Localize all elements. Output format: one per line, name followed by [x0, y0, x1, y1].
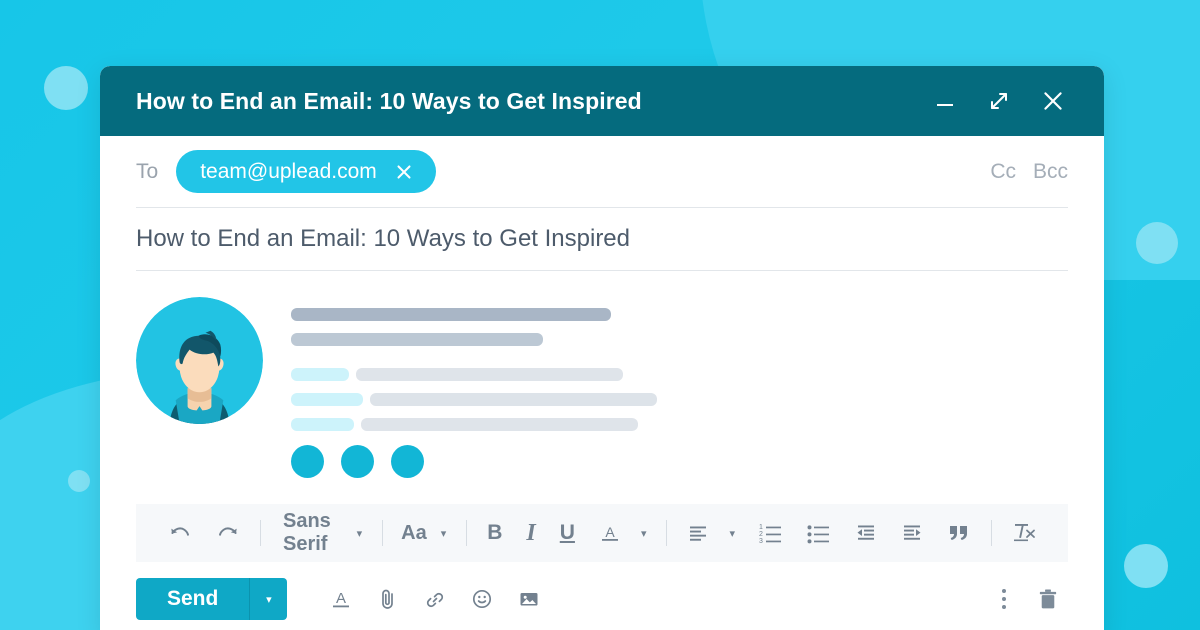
- background-circle-1: [44, 66, 88, 110]
- send-options-button[interactable]: ▾: [249, 578, 287, 620]
- undo-button[interactable]: [156, 513, 204, 553]
- placeholder-line-5: [291, 418, 1068, 431]
- cc-button[interactable]: Cc: [990, 160, 1016, 184]
- bcc-button[interactable]: Bcc: [1033, 160, 1068, 184]
- background-circle-4: [1124, 544, 1168, 588]
- insert-emoji-button[interactable]: [462, 579, 502, 619]
- recipient-chip[interactable]: team@uplead.com: [176, 150, 436, 193]
- insert-link-icon: [423, 587, 447, 611]
- placeholder-bar: [370, 393, 657, 406]
- compose-action-icons: A: [321, 579, 549, 619]
- expand-icon: [987, 89, 1011, 113]
- numbered-list-icon: 1 2 3: [758, 520, 784, 546]
- bold-button[interactable]: B: [475, 521, 514, 545]
- kebab-dot: [1002, 605, 1006, 609]
- placeholder-bar: [361, 418, 638, 431]
- font-size-caret-icon[interactable]: ▾: [433, 527, 459, 540]
- placeholder-prefix: [291, 368, 349, 381]
- body-dot-3[interactable]: [391, 445, 424, 478]
- toolbar-divider: [991, 520, 992, 546]
- subject-input[interactable]: How to End an Email: 10 Ways to Get Insp…: [136, 225, 630, 253]
- remove-formatting-icon: [1011, 520, 1037, 546]
- svg-text:3: 3: [759, 538, 763, 545]
- kebab-dot: [1002, 597, 1006, 601]
- remove-formatting-button[interactable]: [1000, 513, 1048, 553]
- subject-row[interactable]: How to End an Email: 10 Ways to Get Insp…: [136, 208, 1068, 271]
- text-color-caret-icon[interactable]: ▾: [633, 527, 659, 540]
- recipients-row[interactable]: To team@uplead.com Cc Bcc: [136, 136, 1068, 208]
- undo-icon: [167, 520, 193, 546]
- placeholder-line-3: [291, 368, 1068, 381]
- recipient-email: team@uplead.com: [200, 160, 377, 184]
- message-body[interactable]: [100, 271, 1104, 504]
- bulleted-list-icon: [806, 520, 832, 546]
- formatting-options-icon: A: [329, 587, 353, 611]
- formatting-toolbar: Sans Serif ▾ Aa ▾ B I U A ▾ ▾: [136, 504, 1068, 562]
- expand-button[interactable]: [982, 84, 1016, 118]
- toolbar-divider: [666, 520, 667, 546]
- remove-recipient-button[interactable]: [393, 161, 415, 183]
- font-family-caret-icon[interactable]: ▾: [349, 527, 375, 540]
- numbered-list-button[interactable]: 1 2 3: [747, 513, 795, 553]
- minimize-icon: [933, 89, 957, 113]
- underline-button[interactable]: U: [548, 521, 587, 545]
- discard-draft-button[interactable]: [1028, 579, 1068, 619]
- align-caret-icon[interactable]: ▾: [721, 527, 747, 540]
- background-circle-2: [1136, 222, 1178, 264]
- action-bar-right: [992, 579, 1068, 619]
- insert-image-icon: [517, 587, 541, 611]
- window-controls: [928, 84, 1070, 118]
- send-button[interactable]: Send: [136, 578, 249, 620]
- svg-text:A: A: [336, 590, 346, 607]
- svg-text:1: 1: [759, 524, 763, 531]
- compose-title: How to End an Email: 10 Ways to Get Insp…: [136, 88, 642, 115]
- body-dots: [291, 445, 1068, 478]
- font-size-select[interactable]: Aa: [391, 522, 433, 545]
- decrease-indent-icon: [854, 521, 878, 545]
- svg-text:A: A: [605, 524, 615, 540]
- italic-button[interactable]: I: [514, 520, 547, 547]
- toolbar-divider: [466, 520, 467, 546]
- more-options-button[interactable]: [992, 583, 1016, 615]
- insert-emoji-icon: [470, 587, 494, 611]
- toolbar-divider: [382, 520, 383, 546]
- toolbar-divider: [260, 520, 261, 546]
- cc-bcc-group: Cc Bcc: [990, 160, 1068, 184]
- align-button[interactable]: [675, 513, 721, 553]
- body-dot-1[interactable]: [291, 445, 324, 478]
- compose-titlebar: How to End an Email: 10 Ways to Get Insp…: [100, 66, 1104, 136]
- increase-indent-icon: [900, 521, 924, 545]
- attach-file-icon: [376, 587, 400, 611]
- send-button-group[interactable]: Send ▾: [136, 578, 287, 620]
- compose-window: How to End an Email: 10 Ways to Get Insp…: [100, 66, 1104, 630]
- close-icon: [1040, 88, 1066, 114]
- body-placeholder-lines: [291, 297, 1068, 504]
- placeholder-line-1: [291, 308, 611, 321]
- quote-icon: [946, 520, 972, 546]
- placeholder-prefix: [291, 393, 363, 406]
- increase-indent-button[interactable]: [889, 513, 935, 553]
- close-button[interactable]: [1036, 84, 1070, 118]
- decrease-indent-button[interactable]: [843, 513, 889, 553]
- action-bar: Send ▾ A: [100, 562, 1104, 630]
- text-color-button[interactable]: A: [587, 513, 633, 553]
- body-dot-2[interactable]: [341, 445, 374, 478]
- placeholder-prefix: [291, 418, 354, 431]
- placeholder-bar: [356, 368, 623, 381]
- attach-file-button[interactable]: [368, 579, 408, 619]
- formatting-options-button[interactable]: A: [321, 579, 361, 619]
- avatar: [136, 297, 263, 424]
- bulleted-list-button[interactable]: [795, 513, 843, 553]
- quote-button[interactable]: [935, 513, 983, 553]
- to-label: To: [136, 160, 158, 184]
- redo-icon: [215, 520, 241, 546]
- redo-button[interactable]: [204, 513, 252, 553]
- insert-link-button[interactable]: [415, 579, 455, 619]
- placeholder-line-4: [291, 393, 1068, 406]
- kebab-dot: [1002, 589, 1006, 593]
- placeholder-line-2: [291, 333, 543, 346]
- align-left-icon: [686, 521, 710, 545]
- svg-text:2: 2: [759, 531, 763, 538]
- text-color-icon: A: [598, 521, 622, 545]
- background-circle-3: [68, 470, 90, 492]
- close-icon: [393, 161, 415, 183]
- font-family-select[interactable]: Sans Serif: [269, 510, 349, 556]
- avatar-illustration: [136, 297, 263, 424]
- minimize-button[interactable]: [928, 84, 962, 118]
- trash-icon: [1035, 586, 1061, 612]
- insert-image-button[interactable]: [509, 579, 549, 619]
